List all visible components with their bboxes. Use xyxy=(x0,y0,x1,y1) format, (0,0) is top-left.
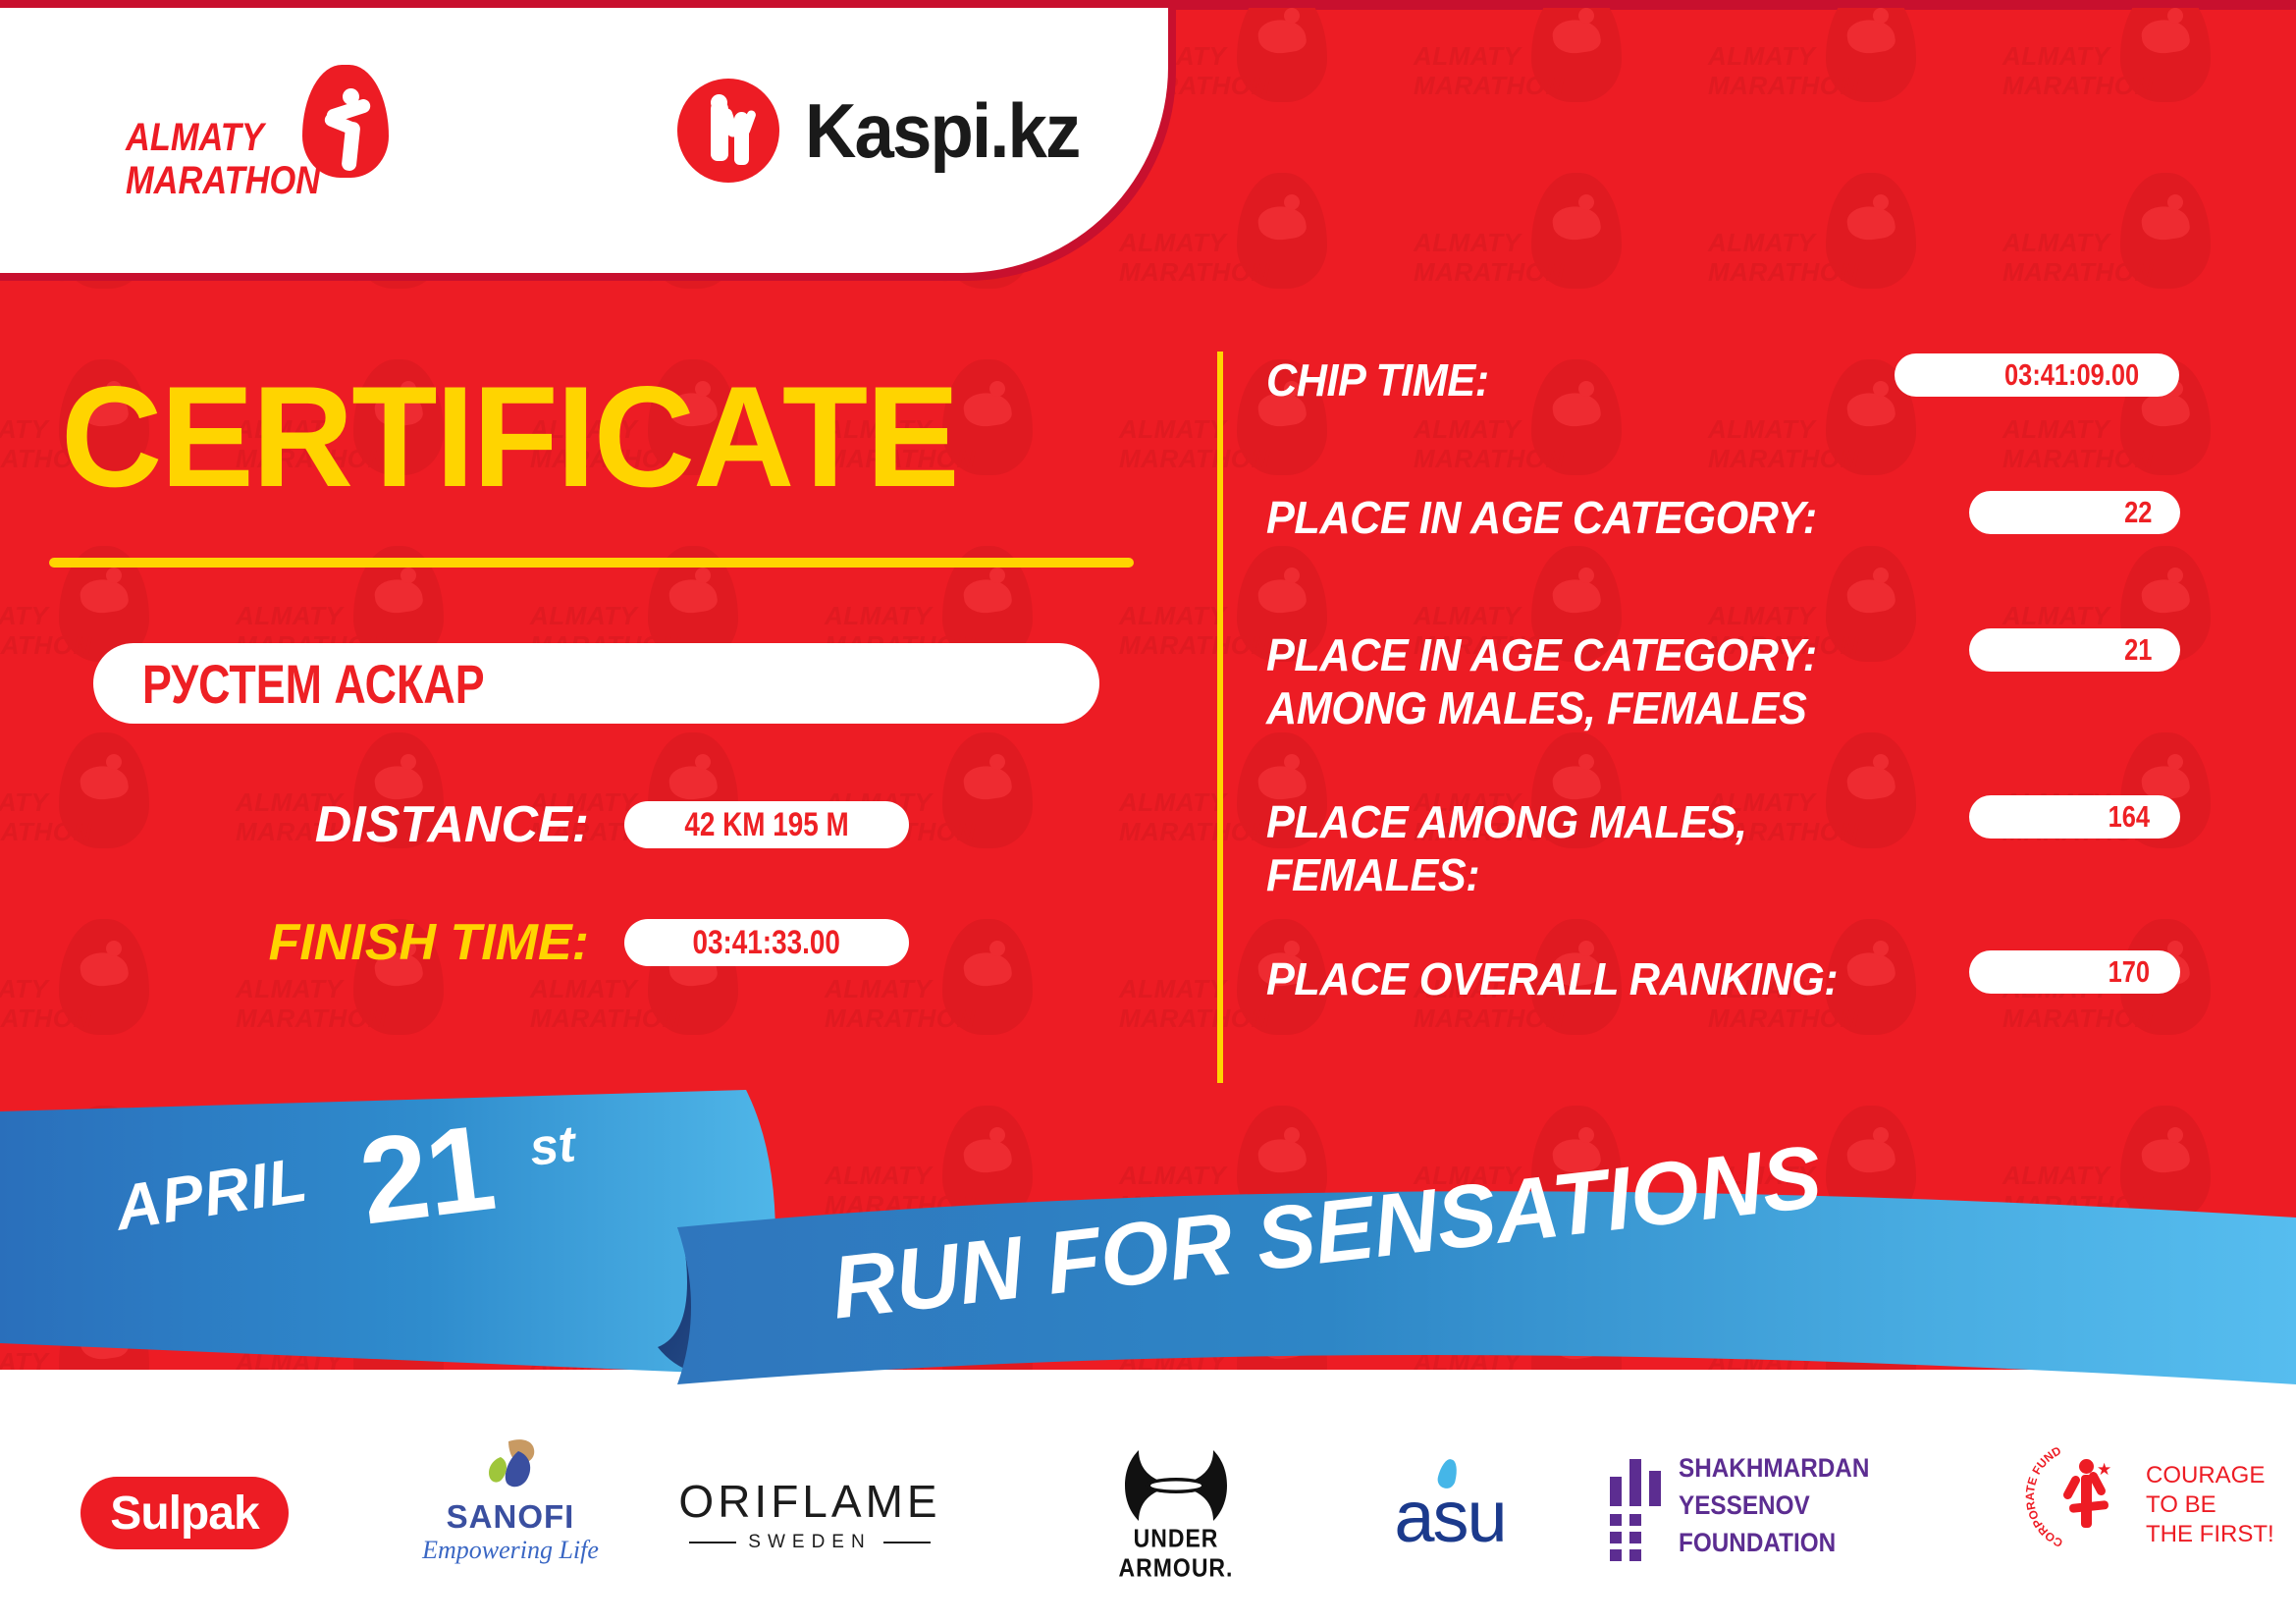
runner-head-icon xyxy=(343,88,359,105)
watermark-line-1: ALMATY xyxy=(1119,228,1226,258)
courage-fund-ring-text: CORPORATE FUND xyxy=(2023,1443,2065,1550)
watermark-line-1: ALMATY xyxy=(1708,41,1815,72)
watermark-runner-head-icon xyxy=(1873,8,1889,24)
yessenov-line-1: SHAKHMARDAN YESSENOV xyxy=(1679,1449,1935,1524)
sponsor-logo-asu: asu xyxy=(1366,1443,1533,1571)
logo-line-2: MARATHON xyxy=(126,159,320,202)
courage-fund-line-2: TO BE xyxy=(2146,1490,2274,1520)
ribbon-day: 21 xyxy=(352,1098,500,1252)
sulpak-badge: Sulpak xyxy=(80,1477,289,1549)
yessenov-lockup: SHAKHMARDAN YESSENOV FOUNDATION xyxy=(1610,1446,1963,1564)
sponsor-logo-oriflame: ORIFLAME SWEDEN xyxy=(677,1447,942,1575)
page-top-accent xyxy=(0,0,2296,8)
sponsor-logo-sulpak: Sulpak xyxy=(80,1449,289,1577)
sponsor-logo-under-armour: UNDER ARMOUR. xyxy=(1078,1439,1274,1567)
ribbon-day-suffix: st xyxy=(527,1114,578,1178)
courage-fund-line-1: COURAGE xyxy=(2146,1461,2274,1490)
sponsor-logo-courage-fund: CORPORATE FUND ★ COURAGE TO BE THE FIRST… xyxy=(2020,1434,2275,1561)
sponsor-logo-sanofi: SANOFI Empowering Life xyxy=(412,1437,609,1565)
oriflame-rule-left xyxy=(689,1542,736,1543)
oriflame-sweden-row: SWEDEN xyxy=(677,1532,942,1553)
sulpak-wordmark: Sulpak xyxy=(110,1487,258,1541)
place-age-category-label: PLACE IN AGE CATEGORY: xyxy=(1266,491,1931,544)
watermark-line-2: MARATHON xyxy=(1708,71,1859,101)
watermark-tile: ALMATYMARATHON xyxy=(2002,0,2296,167)
sponsor-strip: Sulpak SANOFI Empowering Life ORIFLAME xyxy=(0,1416,2296,1624)
watermark-runner-head-icon xyxy=(2167,8,2183,24)
sanofi-wordmark: SANOFI xyxy=(412,1498,609,1536)
place-age-category-value: 22 xyxy=(2124,495,2152,530)
chip-time-value-field: 03:41:09.00 xyxy=(1895,353,2179,397)
watermark-runner-head-icon xyxy=(1284,194,1300,210)
finish-time-value-field: 03:41:33.00 xyxy=(624,919,909,966)
under-armour-logo-icon xyxy=(1078,1444,1274,1527)
sanofi-tagline: Empowering Life xyxy=(412,1536,609,1565)
yessenov-mark-icon xyxy=(1610,1453,1661,1557)
svg-text:CORPORATE FUND: CORPORATE FUND xyxy=(2023,1443,2065,1550)
place-age-category-gender-value-field: 21 xyxy=(1969,628,2180,672)
watermark-tile: ALMATYMARATHON xyxy=(1414,167,1708,353)
place-among-gender-value-field: 164 xyxy=(1969,795,2180,839)
page-title: CERTIFICATE xyxy=(61,363,958,511)
stat-row-distance: DISTANCE: 42 KM 195 M xyxy=(294,795,1099,854)
chip-time-value: 03:41:09.00 xyxy=(2004,357,2139,393)
watermark-runner-head-icon xyxy=(1284,8,1300,24)
kaspi-logo: Kaspi.kz xyxy=(677,77,1099,185)
oriflame-lockup: ORIFLAME SWEDEN xyxy=(677,1457,942,1565)
column-divider xyxy=(1217,352,1223,1083)
under-armour-lockup: UNDER ARMOUR. xyxy=(1078,1444,1274,1562)
watermark-line-2: MARATHON xyxy=(2002,257,2154,288)
right-column: CHIP TIME: 03:41:09.00 PLACE IN AGE CATE… xyxy=(1266,353,2268,1100)
chip-time-label: CHIP TIME: xyxy=(1266,353,1931,406)
watermark-tile: ALMATYMARATHON xyxy=(1708,0,2002,167)
yessenov-line-2: FOUNDATION xyxy=(1679,1524,1935,1561)
yessenov-wordmark: SHAKHMARDAN YESSENOV FOUNDATION xyxy=(1679,1449,1963,1561)
stat-row-finish-time: FINISH TIME: 03:41:33.00 xyxy=(265,913,1099,972)
watermark-line-2: MARATHON xyxy=(2002,71,2154,101)
courage-fund-lockup: CORPORATE FUND ★ COURAGE TO BE THE FIRST… xyxy=(2020,1434,2275,1561)
watermark-tile: ALMATYMARATHON xyxy=(1708,167,2002,353)
watermark-runner-head-icon xyxy=(1873,194,1889,210)
sanofi-lockup: SANOFI Empowering Life xyxy=(412,1437,609,1565)
sponsor-logo-yessenov-foundation: SHAKHMARDAN YESSENOV FOUNDATION xyxy=(1610,1441,1963,1569)
place-among-gender-label: PLACE AMONG MALES, FEMALES: xyxy=(1266,795,1912,901)
watermark-line-1: ALMATY xyxy=(1414,228,1521,258)
watermark-line-2: MARATHON xyxy=(1414,71,1565,101)
watermark-line-1: ALMATY xyxy=(1708,228,1815,258)
asu-lockup: asu xyxy=(1366,1453,1533,1561)
watermark-line-1: ALMATY xyxy=(2002,41,2109,72)
logo-line-1: ALMATY xyxy=(126,116,320,159)
runner-name-field: РУСТЕМ АСКАР xyxy=(93,643,1099,724)
title-underline xyxy=(49,558,1134,568)
event-date-ribbon: APRIL 21 st RUN FOR SENSATIONS xyxy=(0,1090,2296,1414)
courage-fund-line-3: THE FIRST! xyxy=(2146,1520,2274,1549)
kaspi-figures-icon xyxy=(677,79,779,183)
place-overall-value: 170 xyxy=(2109,954,2150,990)
watermark-tile: ALMATYMARATHON xyxy=(2002,167,2296,353)
distance-value-field: 42 KM 195 M xyxy=(624,801,909,848)
watermark-runner-head-icon xyxy=(1578,8,1594,24)
watermark-runner-head-icon xyxy=(2167,194,2183,210)
place-age-category-gender-value: 21 xyxy=(2124,632,2152,668)
runner-name-value: РУСТЕМ АСКАР xyxy=(142,652,485,716)
watermark-line-2: MARATHON xyxy=(1119,257,1270,288)
sanofi-mark-icon xyxy=(479,1437,540,1492)
kaspi-wordmark: Kaspi.kz xyxy=(805,86,1079,176)
oriflame-tagline: SWEDEN xyxy=(748,1532,871,1553)
place-overall-value-field: 170 xyxy=(1969,950,2180,994)
watermark-line-1: ALMATY xyxy=(2002,228,2109,258)
watermark-tile: ALMATYMARATHON xyxy=(1414,0,1708,167)
distance-label: DISTANCE: xyxy=(294,795,589,854)
left-column: CERTIFICATE РУСТЕМ АСКАР DISTANCE: 42 KM… xyxy=(0,295,1207,1110)
watermark-runner-head-icon xyxy=(1578,194,1594,210)
oriflame-rule-right xyxy=(883,1542,931,1543)
almaty-marathon-logo: ALMATY MARATHON xyxy=(116,65,440,202)
place-age-category-value-field: 22 xyxy=(1969,491,2180,534)
courage-fund-wordmark: COURAGE TO BE THE FIRST! xyxy=(2146,1461,2274,1549)
courage-fund-figure-icon: ★ xyxy=(2067,1459,2103,1530)
certificate-page: ALMATYMARATHONALMATYMARATHONALMATYMARATH… xyxy=(0,0,2296,1624)
place-age-category-gender-label: PLACE IN AGE CATEGORY: AMONG MALES, FEMA… xyxy=(1266,628,1931,734)
watermark-line-2: MARATHON xyxy=(1414,257,1565,288)
distance-value: 42 KM 195 M xyxy=(684,806,848,844)
finish-time-value: 03:41:33.00 xyxy=(693,924,840,962)
place-overall-label: PLACE OVERALL RANKING: xyxy=(1266,952,1931,1005)
under-armour-wordmark: UNDER ARMOUR. xyxy=(1078,1524,1274,1583)
courage-fund-star-icon: ★ xyxy=(2097,1461,2111,1478)
watermark-line-2: MARATHON xyxy=(1708,257,1859,288)
finish-time-label: FINISH TIME: xyxy=(265,913,589,972)
watermark-line-1: ALMATY xyxy=(1414,41,1521,72)
almaty-marathon-wordmark: ALMATY MARATHON xyxy=(126,116,320,202)
place-among-gender-value: 164 xyxy=(2109,799,2150,835)
oriflame-wordmark: ORIFLAME xyxy=(677,1475,942,1528)
